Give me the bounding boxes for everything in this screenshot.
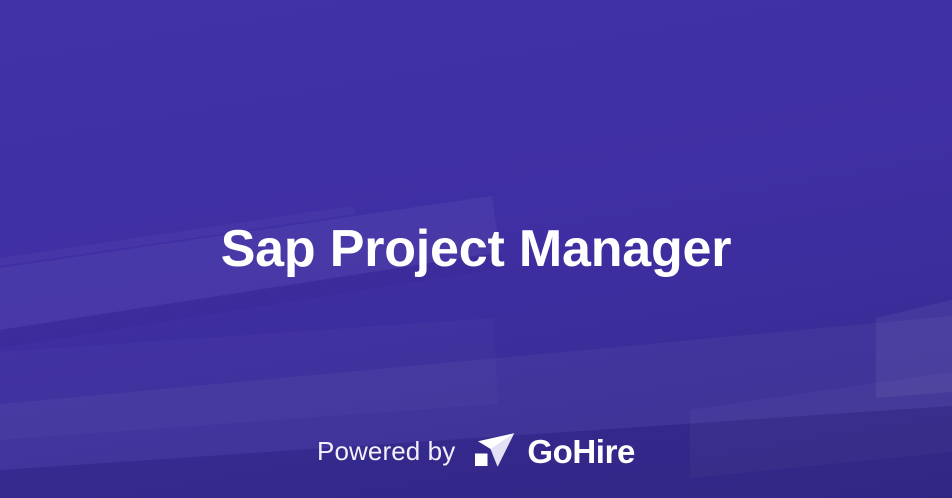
page-title: Sap Project Manager: [221, 220, 732, 278]
powered-by-label: Powered by: [317, 438, 455, 464]
footer-branding: Powered by GoHire: [0, 431, 952, 471]
title-container: Sap Project Manager: [0, 0, 952, 498]
gohire-wordmark: GoHire: [527, 435, 635, 468]
card-content: Sap Project Manager Powered by GoHire: [0, 0, 952, 498]
social-share-card: Sap Project Manager Powered by GoHire: [0, 0, 952, 498]
gohire-brand-mark: GoHire: [473, 431, 635, 471]
paper-plane-icon: [473, 431, 519, 471]
